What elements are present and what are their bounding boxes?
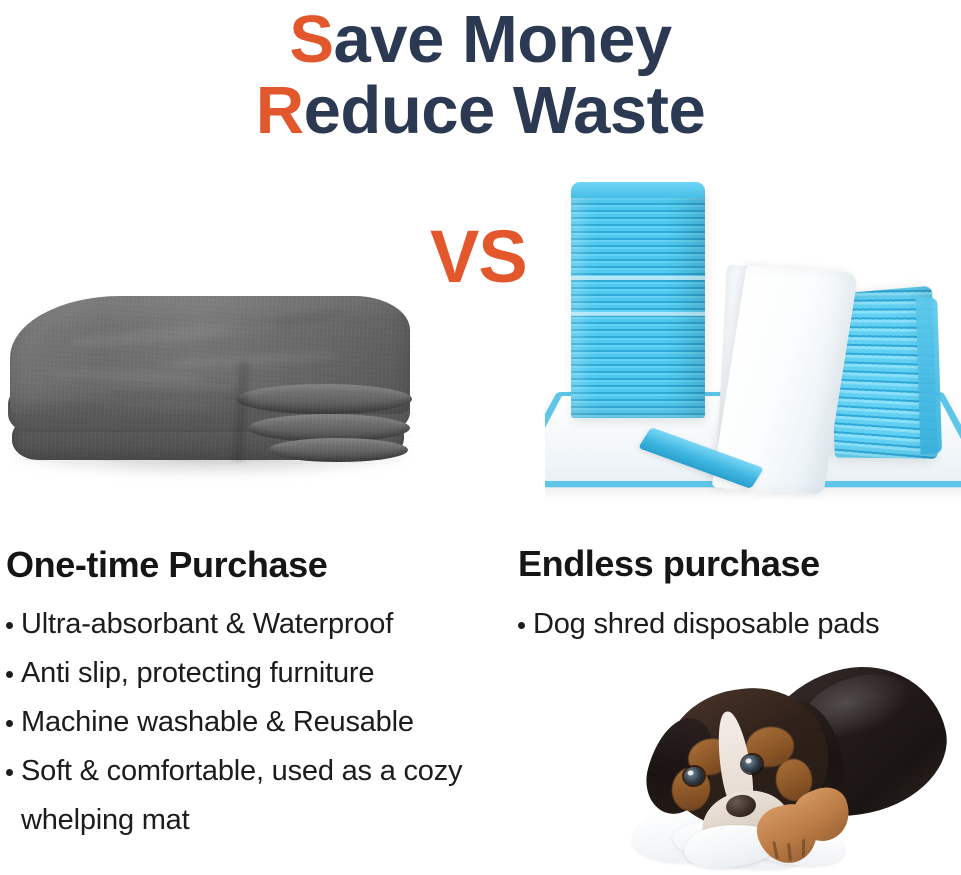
disposable-pads-product-image (545, 180, 961, 520)
list-item: Soft & comfortable, used as a cozy whelp… (4, 747, 494, 845)
list-item: Dog shred disposable pads (516, 600, 956, 649)
pad-fanned-stack-side (916, 297, 942, 455)
bullet-dot-icon (6, 769, 13, 776)
left-column-heading: One-time Purchase (6, 544, 327, 586)
list-item-label: Soft & comfortable, used as a cozy whelp… (21, 755, 462, 836)
headline-line-1: Save Money (0, 4, 961, 76)
puppy-shredding-pad-image (628, 655, 961, 875)
versus-label: VS (430, 220, 527, 294)
headline-line-1-text: ave Money (334, 2, 672, 77)
headline-line-2: Reduce Waste (0, 75, 961, 147)
list-item: Ultra-absorbant & Waterproof (4, 600, 494, 649)
headline-accent-letter-r: R (256, 73, 304, 148)
blanket-rolled-edge (268, 438, 408, 462)
pad-stack-seam (571, 312, 705, 316)
blanket-wrinkle (50, 367, 200, 383)
bullet-dot-icon (6, 622, 13, 629)
pad-stack-seam (571, 276, 705, 280)
list-item-label: Machine washable & Reusable (21, 706, 414, 738)
bullet-dot-icon (6, 720, 13, 727)
blanket-product-image (0, 288, 420, 523)
pad-tall-stack-top (571, 182, 705, 198)
blanket-rolled-edge (236, 384, 412, 414)
headline-accent-letter-s: S (289, 2, 333, 77)
right-column-feature-list: Dog shred disposable pads (516, 600, 956, 649)
list-item-label: Dog shred disposable pads (533, 608, 879, 640)
list-item: Machine washable & Reusable (4, 698, 494, 747)
infographic-page: Save Money Reduce Waste VS (0, 0, 961, 875)
right-column-heading: Endless purchase (518, 543, 820, 585)
pad-tall-stack (571, 186, 705, 418)
bullet-dot-icon (6, 671, 13, 678)
list-item: Anti slip, protecting furniture (4, 649, 494, 698)
bullet-dot-icon (518, 622, 525, 629)
list-item-label: Ultra-absorbant & Waterproof (21, 608, 393, 640)
headline-block: Save Money Reduce Waste (0, 0, 961, 147)
left-column-feature-list: Ultra-absorbant & Waterproof Anti slip, … (4, 600, 494, 845)
headline-line-2-text: educe Waste (304, 73, 706, 148)
list-item-label: Anti slip, protecting furniture (21, 657, 374, 689)
puppy-toe-line (802, 839, 806, 857)
